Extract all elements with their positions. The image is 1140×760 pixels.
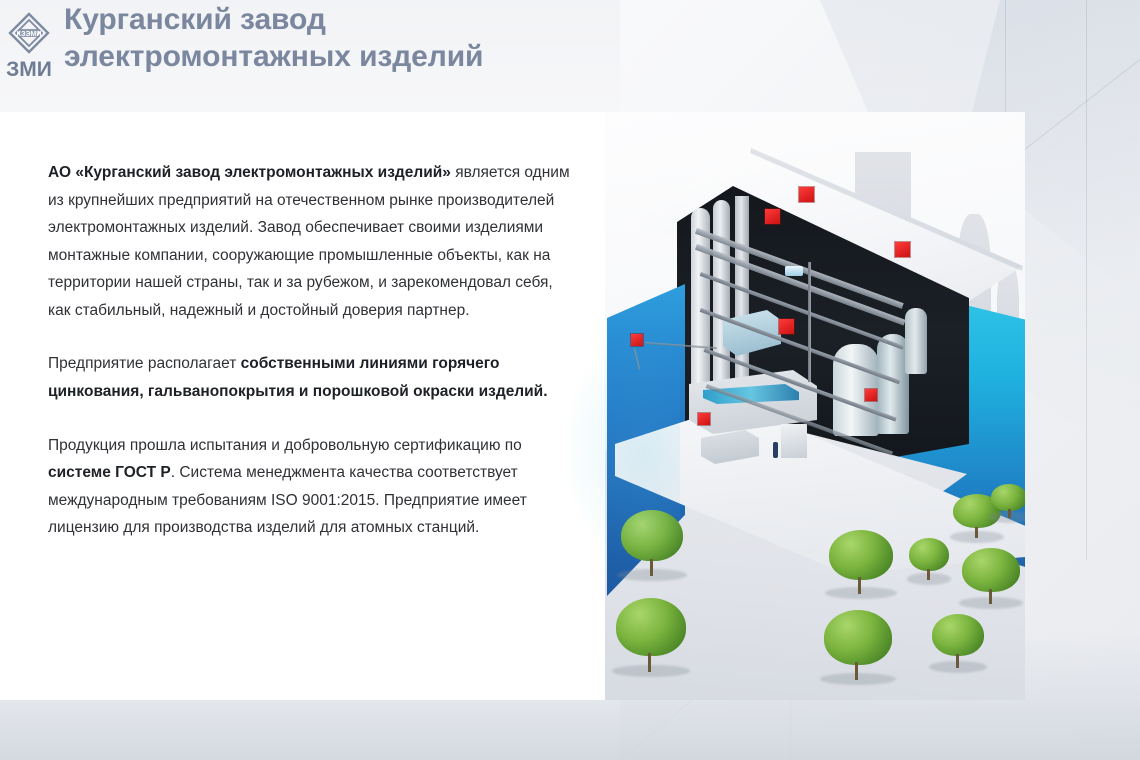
- tree-crown: [616, 598, 686, 656]
- text-body: АО «Курганский завод электромонтажных из…: [48, 159, 578, 542]
- company-legal-name: АО «Курганский завод электромонтажных из…: [48, 164, 451, 181]
- tree-trunk: [855, 662, 858, 680]
- landscaping-tree: [616, 598, 686, 672]
- presentation-slide: КЗЭМИ ЗМИ Курганский завод электромонтаж…: [0, 0, 1140, 760]
- process-column: [713, 200, 730, 390]
- page-title: Курганский завод электромонтажных издели…: [64, 2, 724, 75]
- landscaping-tree: [621, 510, 683, 576]
- landscaping-tree: [962, 548, 1020, 604]
- svg-text:КЗЭМИ: КЗЭМИ: [17, 31, 42, 38]
- tree-trunk: [650, 559, 653, 576]
- tree-crown: [824, 610, 892, 665]
- tree-trunk: [956, 654, 959, 668]
- tree-trunk: [858, 577, 861, 594]
- pallet-stack: [781, 424, 807, 458]
- support-column: [808, 262, 811, 382]
- tree-crown: [991, 484, 1025, 511]
- tree-trunk: [927, 569, 930, 580]
- tree-crown: [932, 614, 984, 656]
- text-content-card: АО «Курганский завод электромонтажных из…: [0, 112, 618, 700]
- logo-letters: ЗМИ: [6, 58, 52, 81]
- tree-trunk: [648, 653, 651, 672]
- paragraph-capabilities: Предприятие располагает собственными лин…: [48, 350, 578, 405]
- red-cable-tray-marker: [895, 242, 910, 257]
- tree-trunk: [975, 527, 978, 538]
- ceiling-light: [785, 266, 803, 276]
- duct-stack: [735, 196, 749, 401]
- certification-standard: системе ГОСТ Р: [48, 464, 171, 481]
- tree-crown: [829, 530, 893, 580]
- red-cable-tray-marker: [865, 389, 877, 401]
- paragraph-about-rest: является одним из крупнейших предприятий…: [48, 164, 570, 319]
- slide-header: КЗЭМИ ЗМИ Курганский завод электромонтаж…: [0, 0, 1140, 112]
- worker-figure: [773, 442, 778, 458]
- tree-crown: [909, 538, 949, 571]
- tree-crown: [962, 548, 1020, 592]
- landscaping-tree: [829, 530, 893, 594]
- storage-tank-rear: [905, 308, 927, 374]
- company-logo-icon: КЗЭМИ ЗМИ: [6, 10, 52, 86]
- red-cable-tray-marker: [631, 334, 643, 346]
- red-cable-tray-marker: [765, 209, 780, 224]
- tree-trunk: [1008, 509, 1011, 518]
- paragraph-certification: Продукция прошла испытания и добровольну…: [48, 432, 578, 542]
- tree-trunk: [989, 589, 992, 604]
- landscaping-tree: [909, 538, 949, 580]
- certification-prefix: Продукция прошла испытания и добровольну…: [48, 437, 522, 454]
- tree-crown: [621, 510, 683, 561]
- paragraph-about: АО «Курганский завод электромонтажных из…: [48, 159, 578, 324]
- landscaping-tree: [991, 484, 1025, 518]
- landscaping-tree: [824, 610, 892, 680]
- capabilities-prefix: Предприятие располагает: [48, 355, 241, 372]
- landscaping-tree: [932, 614, 984, 668]
- red-cable-tray-marker: [779, 319, 794, 334]
- red-cable-tray-marker: [799, 187, 814, 202]
- red-cable-tray-marker: [698, 413, 710, 425]
